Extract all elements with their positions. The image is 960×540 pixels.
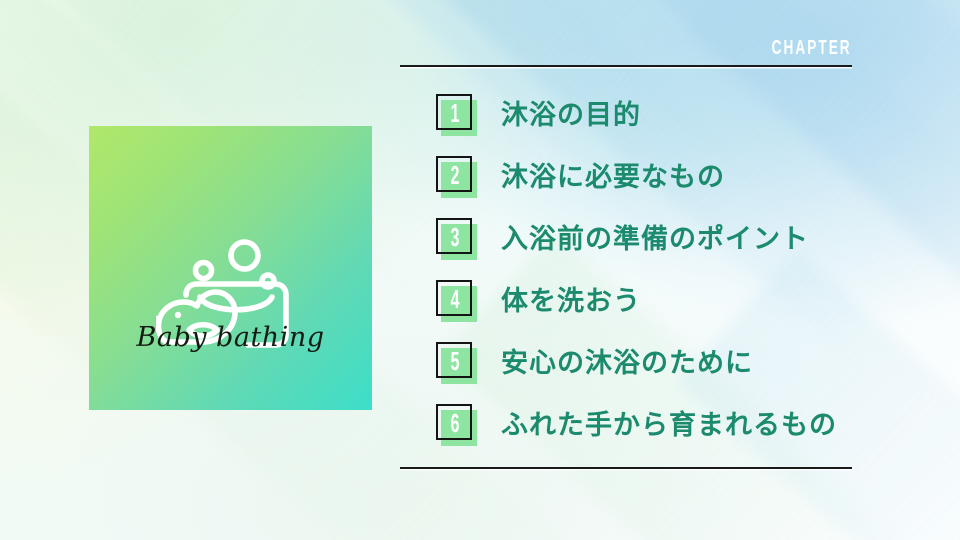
list-item[interactable]: 2 沐浴に必要なもの [400, 146, 852, 208]
badge-number: 6 [443, 404, 467, 442]
number-badge: 6 [436, 404, 478, 446]
badge-number: 5 [443, 342, 467, 380]
badge-number: 3 [443, 218, 467, 256]
number-badge: 2 [436, 156, 478, 198]
chapter-content: CHAPTER 1 沐浴の目的 2 沐浴に必要なもの [400, 0, 852, 540]
chapter-label: CHAPTER [772, 38, 852, 58]
toc-item-label: ふれた手から育まれるもの [501, 412, 837, 439]
number-badge: 1 [436, 94, 478, 136]
chapter-slide: Baby bathing CHAPTER 1 沐浴の目的 2 沐浴に [0, 0, 960, 540]
badge-number: 4 [443, 280, 467, 318]
visual-card: Baby bathing [89, 126, 372, 410]
badge-number: 2 [443, 156, 467, 194]
badge-number: 1 [443, 94, 467, 132]
toc-item-label: 体を洗おう [501, 288, 641, 315]
toc-item-label: 沐浴の目的 [501, 102, 641, 129]
list-item[interactable]: 3 入浴前の準備のポイント [400, 208, 852, 270]
toc-item-label: 安心の沐浴のために [501, 350, 753, 377]
divider-top [400, 65, 852, 67]
number-badge: 5 [436, 342, 478, 384]
toc-item-label: 沐浴に必要なもの [501, 164, 725, 191]
toc-item-label: 入浴前の準備のポイント [501, 226, 809, 253]
list-item[interactable]: 1 沐浴の目的 [400, 84, 852, 146]
number-badge: 3 [436, 218, 478, 260]
list-item[interactable]: 5 安心の沐浴のために [400, 332, 852, 394]
list-item[interactable]: 6 ふれた手から育まれるもの [400, 394, 852, 456]
card-caption: Baby bathing [89, 322, 372, 353]
divider-bottom [400, 467, 852, 469]
number-badge: 4 [436, 280, 478, 322]
table-of-contents: 1 沐浴の目的 2 沐浴に必要なもの 3 入浴前の準備のポイント [400, 84, 852, 456]
list-item[interactable]: 4 体を洗おう [400, 270, 852, 332]
